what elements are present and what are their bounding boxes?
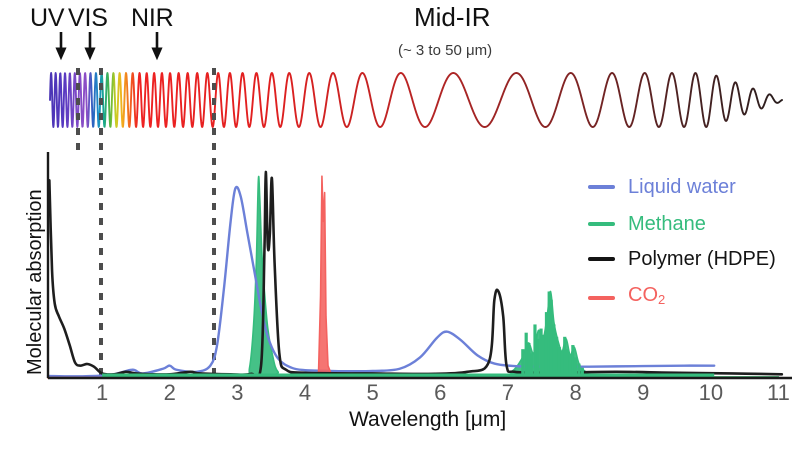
figure-root: UV VIS NIR Mid-IR (~ 3 to 50 μm) xyxy=(0,0,800,450)
legend-label-co2-subscript: 2 xyxy=(658,292,665,307)
em-wave-illustration xyxy=(50,73,782,127)
legend-label-liquid-water: Liquid water xyxy=(628,177,736,197)
x-tick-label-1: 1 xyxy=(96,380,108,405)
x-tick-label-10: 10 xyxy=(699,380,723,405)
legend-label-co2-text: CO xyxy=(628,284,658,306)
x-tick-label-9: 9 xyxy=(637,380,649,405)
legend-swatch-polymer-hdpe xyxy=(588,257,615,261)
legend-label-polymer-hdpe: Polymer (HDPE) xyxy=(628,249,776,269)
x-tick-label-7: 7 xyxy=(502,380,514,405)
band-arrow-nir xyxy=(152,32,162,59)
legend-item-liquid-water[interactable]: Liquid water xyxy=(588,177,736,197)
x-tick-label-8: 8 xyxy=(569,380,581,405)
x-tick-label-3: 3 xyxy=(231,380,243,405)
legend-item-polymer-hdpe[interactable]: Polymer (HDPE) xyxy=(588,249,776,269)
series-methane xyxy=(48,177,778,378)
legend-item-methane[interactable]: Methane xyxy=(588,214,706,234)
series-co2 xyxy=(48,176,778,378)
x-tick-label-11: 11 xyxy=(767,380,790,405)
legend-label-co2: CO2 xyxy=(628,285,665,310)
legend-item-co2[interactable]: CO2 xyxy=(588,285,665,310)
legend-swatch-methane xyxy=(588,222,615,226)
spectra-plot xyxy=(48,172,782,378)
series-polymer-hdpe xyxy=(49,172,782,377)
methane-rotational-line xyxy=(536,339,539,378)
legend-swatch-liquid-water xyxy=(588,185,615,189)
x-tick-label-2: 2 xyxy=(164,380,176,405)
band-arrow-vis xyxy=(85,32,95,59)
x-tick-label-5: 5 xyxy=(367,380,379,405)
band-arrow-uv xyxy=(56,32,66,59)
x-tick-label-4: 4 xyxy=(299,380,311,405)
legend-label-methane: Methane xyxy=(628,214,706,234)
x-tick-label-6: 6 xyxy=(434,380,446,405)
x-axis-label: Wavelength [μm] xyxy=(349,408,506,432)
x-axis-ticks: 1234567891011 xyxy=(96,380,790,405)
legend-swatch-co2 xyxy=(588,296,615,300)
y-axis-label: Molecular absorption xyxy=(24,189,47,375)
